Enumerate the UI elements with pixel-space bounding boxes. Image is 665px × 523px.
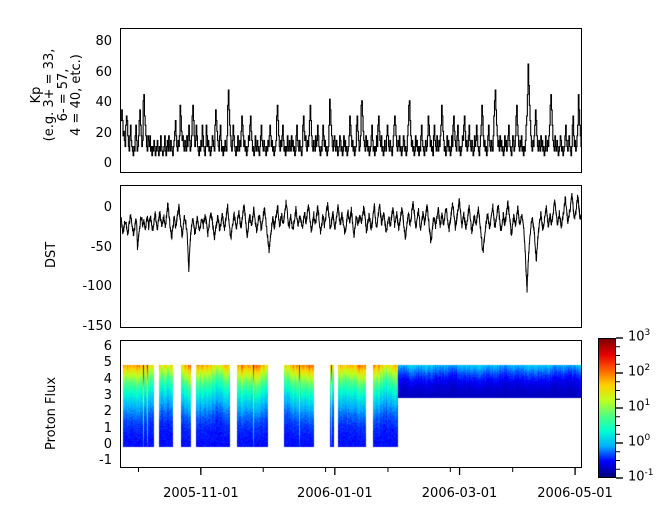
x-tick-label: 2005-11-01 — [146, 486, 256, 501]
figure-root: Kp(e.g. 3+ = 33,6- = 57,4 = 40, etc.) 02… — [0, 0, 665, 523]
colorbar-tick-label: 10-1 — [628, 468, 654, 484]
x-axis-tick-marks — [112, 468, 592, 484]
kp-trace — [121, 29, 582, 173]
colorbar-tick-label: 103 — [628, 328, 650, 344]
x-tick-label: 2006-01-01 — [280, 486, 390, 501]
colorbar-tick-label: 101 — [628, 398, 650, 414]
panel-dst — [120, 185, 582, 328]
panel-kp — [120, 28, 582, 173]
colorbar — [598, 338, 616, 478]
colorbar-tick-label: 102 — [628, 363, 650, 379]
proton-flux-tick-marks — [104, 336, 144, 476]
dst-axis-label: DST — [44, 242, 59, 268]
kp-tick-marks — [104, 20, 144, 190]
colorbar-tick-label: 100 — [628, 433, 650, 449]
proton-flux-spectrogram — [121, 341, 582, 468]
proton-flux-axis-label: Proton Flux — [44, 377, 59, 450]
panel-proton-flux — [120, 340, 582, 468]
dst-trace — [121, 186, 582, 328]
dst-tick-marks — [104, 180, 144, 340]
x-tick-label: 2006-05-01 — [520, 486, 630, 501]
x-tick-label: 2006-03-01 — [405, 486, 515, 501]
